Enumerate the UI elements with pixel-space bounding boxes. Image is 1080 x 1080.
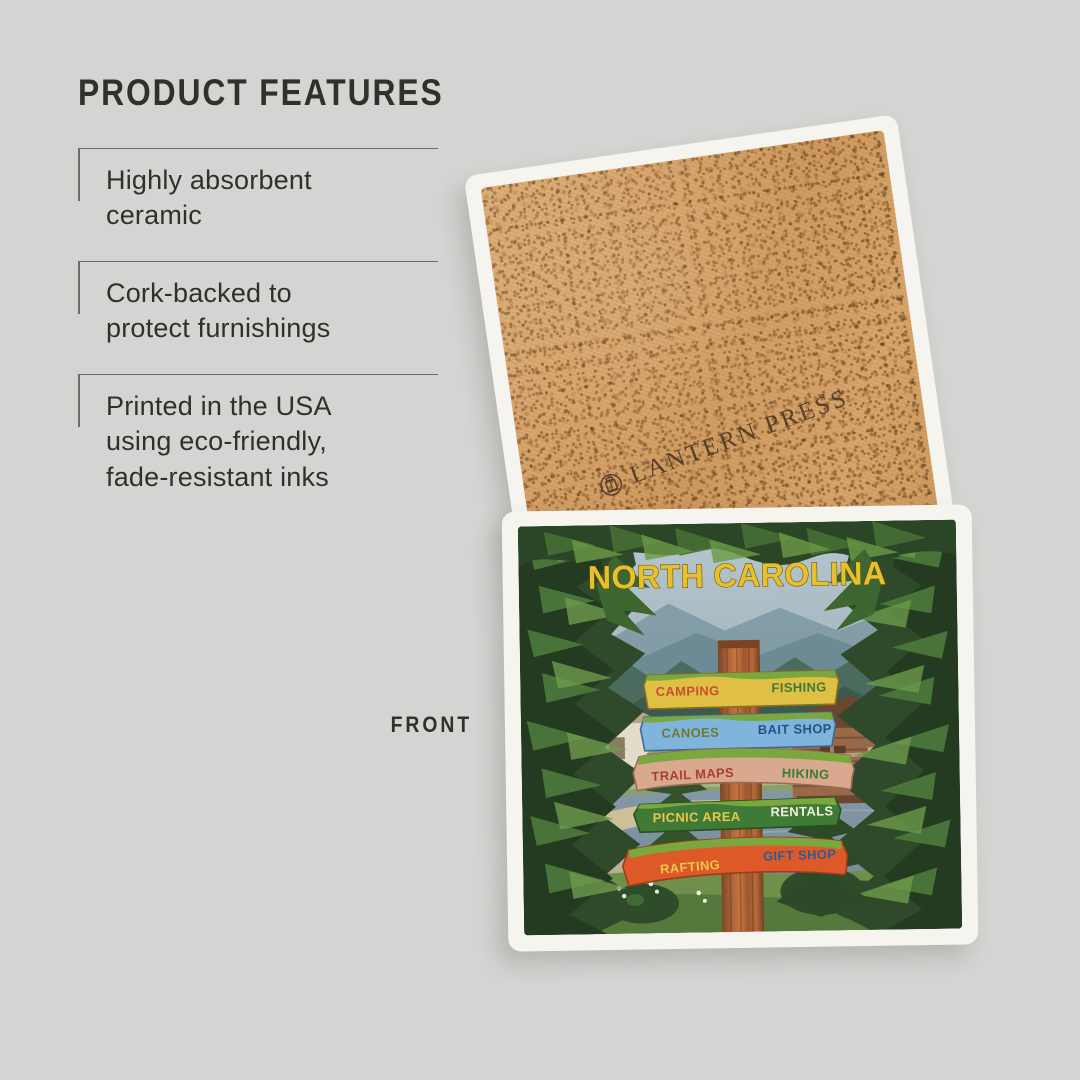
feature-item: Highly absorbent ceramic: [78, 148, 438, 243]
sign-board-1: CAMPING FISHING: [644, 670, 840, 709]
lantern-icon: [595, 469, 627, 501]
sign-label-fishing: FISHING: [771, 679, 826, 695]
artwork-illustration: NORTH CAROLINA: [518, 520, 962, 936]
feature-item: Cork-backed to protect furnishings: [78, 261, 438, 356]
coaster-front: NORTH CAROLINA: [502, 504, 979, 951]
sign-board-2: CANOES BAIT SHOP: [640, 712, 836, 751]
sign-label-hiking: HIKING: [782, 765, 830, 782]
product-features-panel: PRODUCT FEATURES Highly absorbent cerami…: [78, 72, 438, 523]
feature-item: Printed in the USA using eco-friendly, f…: [78, 374, 438, 504]
sign-label-gift-shop: GIFT SHOP: [763, 846, 837, 863]
front-caption: FRONT: [391, 712, 473, 738]
feature-text: Cork-backed to protect furnishings: [106, 276, 438, 346]
feature-text: Printed in the USA using eco-friendly, f…: [106, 389, 438, 494]
artwork-title: NORTH CAROLINA: [588, 555, 887, 596]
sign-label-bait-shop: BAIT SHOP: [758, 721, 832, 737]
sign-label-camping: CAMPING: [656, 683, 720, 699]
page-title: PRODUCT FEATURES: [78, 72, 388, 114]
lantern-press-brand: LANTERN PRESS: [594, 385, 852, 503]
sign-label-canoes: CANOES: [661, 725, 719, 741]
feature-text: Highly absorbent ceramic: [106, 163, 438, 233]
sign-label-rentals: RENTALS: [770, 803, 833, 819]
product-showcase-canvas: PRODUCT FEATURES Highly absorbent cerami…: [0, 0, 1080, 1080]
sign-label-picnic-area: PICNIC AREA: [653, 809, 741, 825]
coaster-artwork: NORTH CAROLINA: [518, 520, 962, 936]
brand-name: LANTERN PRESS: [626, 385, 852, 491]
